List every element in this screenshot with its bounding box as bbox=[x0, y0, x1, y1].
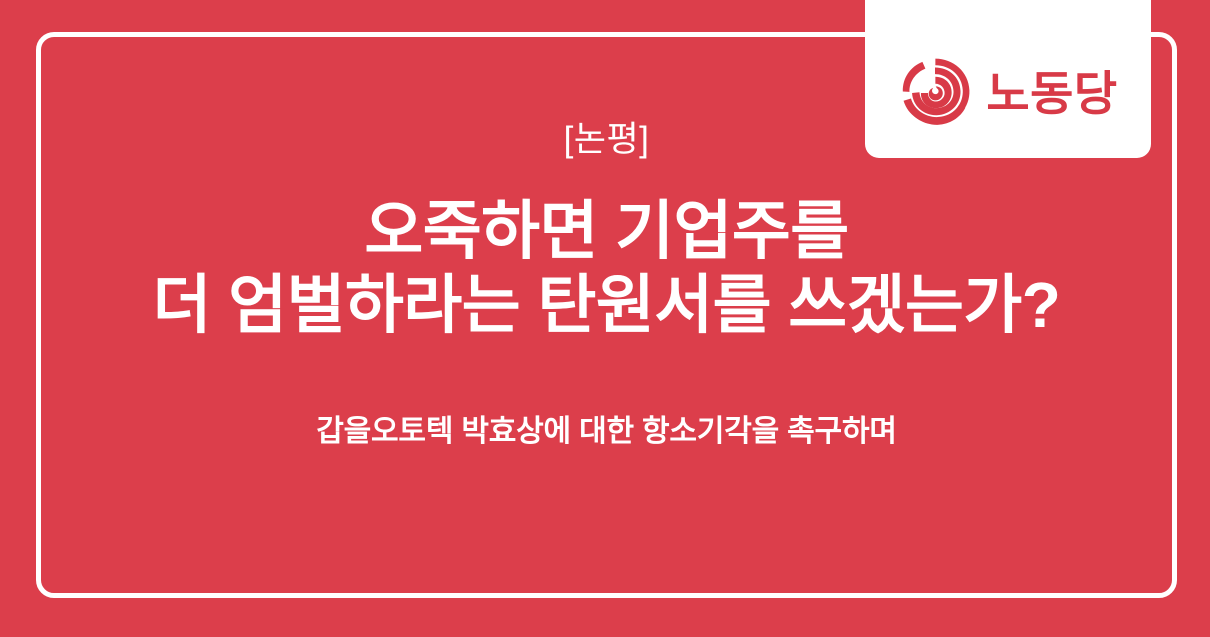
poster-subtitle: 갑을오토텍 박효상에 대한 항소기각을 촉구하며 bbox=[316, 414, 897, 450]
logo-plate: 노동당 bbox=[865, 0, 1151, 158]
headline-line-1: 오죽하면 기업주를 bbox=[153, 194, 1061, 268]
poster-card: [논평] 오죽하면 기업주를 더 엄벌하라는 탄원서를 쓰겠는가? 갑을오토텍 … bbox=[0, 0, 1210, 637]
rose-spiral-icon bbox=[898, 56, 972, 130]
party-wordmark: 노동당 bbox=[986, 70, 1117, 117]
kicker-label: [논평] bbox=[564, 122, 650, 157]
headline-line-2: 더 엄벌하라는 탄원서를 쓰겠는가? bbox=[153, 268, 1061, 342]
page-title: 오죽하면 기업주를 더 엄벌하라는 탄원서를 쓰겠는가? bbox=[153, 194, 1061, 342]
party-logo: 노동당 bbox=[898, 56, 1117, 130]
